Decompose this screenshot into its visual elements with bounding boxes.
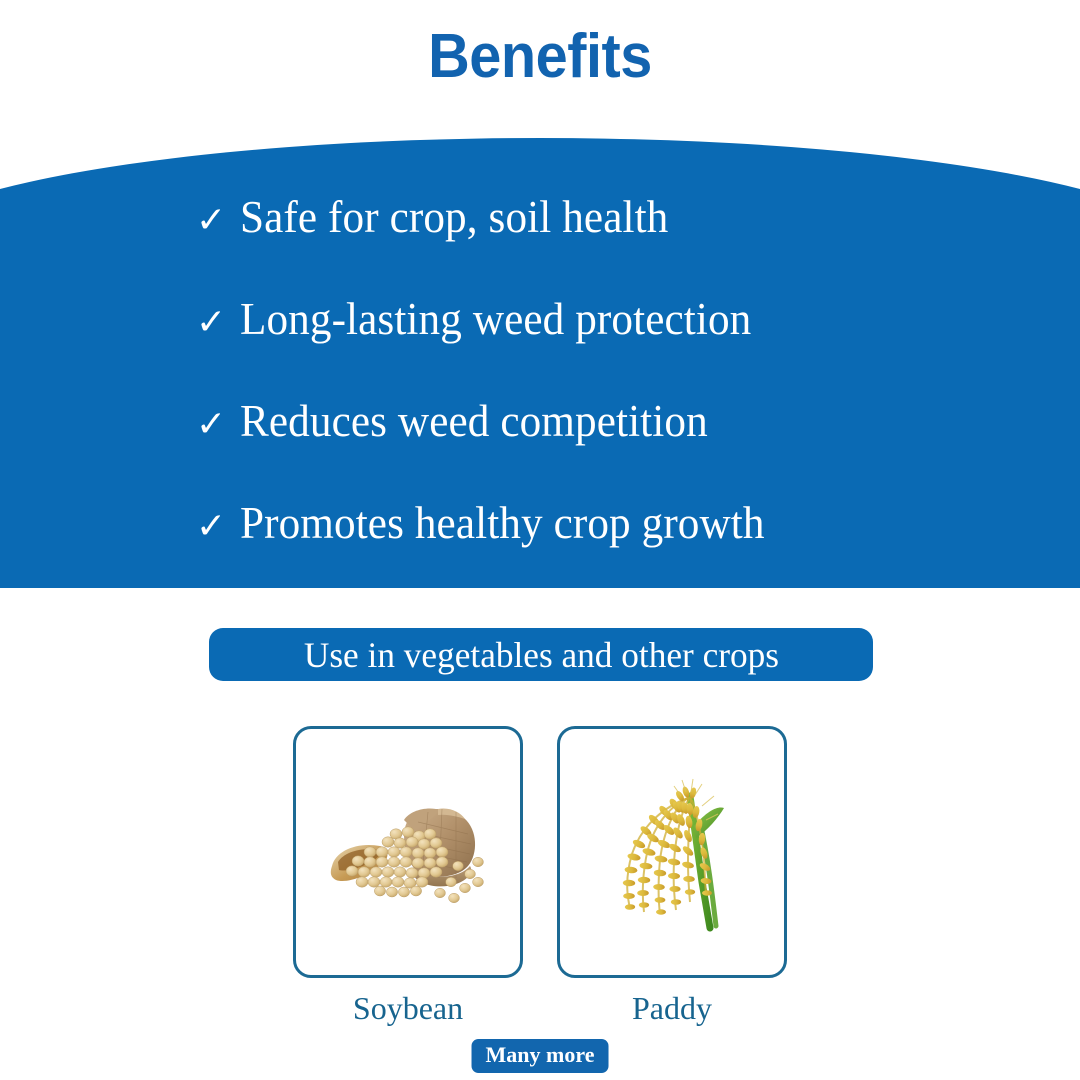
crop-card-row: Soybean <box>0 726 1080 1024</box>
crop-item-soybean: Soybean <box>293 726 523 1024</box>
check-icon: ✓ <box>196 203 240 239</box>
crop-label-soybean: Soybean <box>353 992 463 1024</box>
benefits-list: ✓ Safe for crop, soil health ✓ Long-last… <box>0 138 1080 588</box>
crop-item-paddy: Paddy <box>557 726 787 1024</box>
many-more-button[interactable]: Many more <box>472 1039 609 1073</box>
check-icon: ✓ <box>196 509 240 545</box>
benefit-label: Long-lasting weed protection <box>240 297 751 342</box>
check-icon: ✓ <box>196 407 240 443</box>
soybean-sack-image <box>318 762 498 942</box>
benefit-label: Reduces weed competition <box>240 399 708 444</box>
benefit-label: Promotes healthy crop growth <box>240 501 765 546</box>
benefit-label: Safe for crop, soil health <box>240 195 668 240</box>
check-icon: ✓ <box>196 305 240 341</box>
benefit-item-4: ✓ Promotes healthy crop growth <box>196 501 1080 603</box>
paddy-rice-stalk-image <box>582 762 762 942</box>
page-title: Benefits <box>38 26 1042 88</box>
benefit-item-2: ✓ Long-lasting weed protection <box>196 297 1080 399</box>
benefit-item-3: ✓ Reduces weed competition <box>196 399 1080 501</box>
crop-card-soybean[interactable] <box>293 726 523 978</box>
crop-card-paddy[interactable] <box>557 726 787 978</box>
crop-label-paddy: Paddy <box>632 992 712 1024</box>
many-more-label: Many more <box>486 1042 595 1067</box>
use-in-crops-banner: Use in vegetables and other crops <box>209 628 873 681</box>
use-in-crops-banner-label: Use in vegetables and other crops <box>303 637 778 673</box>
benefit-item-1: ✓ Safe for crop, soil health <box>196 195 1080 297</box>
